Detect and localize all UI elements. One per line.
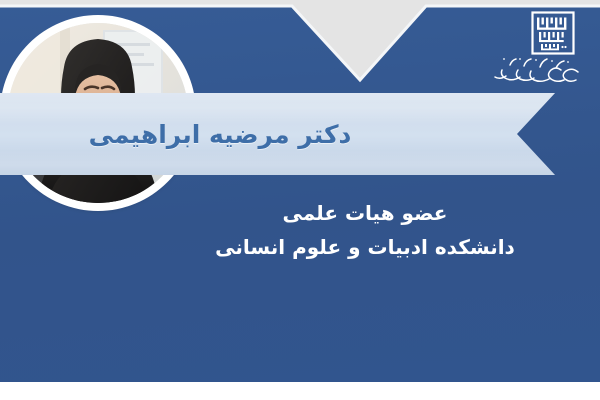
public-relations-script-icon (490, 50, 582, 88)
person-name: دکتر مرضیه ابراهیمی (0, 93, 500, 175)
role-line: عضو هیات علمی (130, 196, 600, 230)
university-logo (490, 6, 582, 90)
faculty-profile-card: دکتر مرضیه ابراهیمی عضو هیات علمی دانشکد… (0, 0, 600, 400)
faculty-line: دانشکده ادبیات و علوم انسانی (130, 230, 600, 264)
subtitle-block: عضو هیات علمی دانشکده ادبیات و علوم انسا… (0, 196, 600, 264)
